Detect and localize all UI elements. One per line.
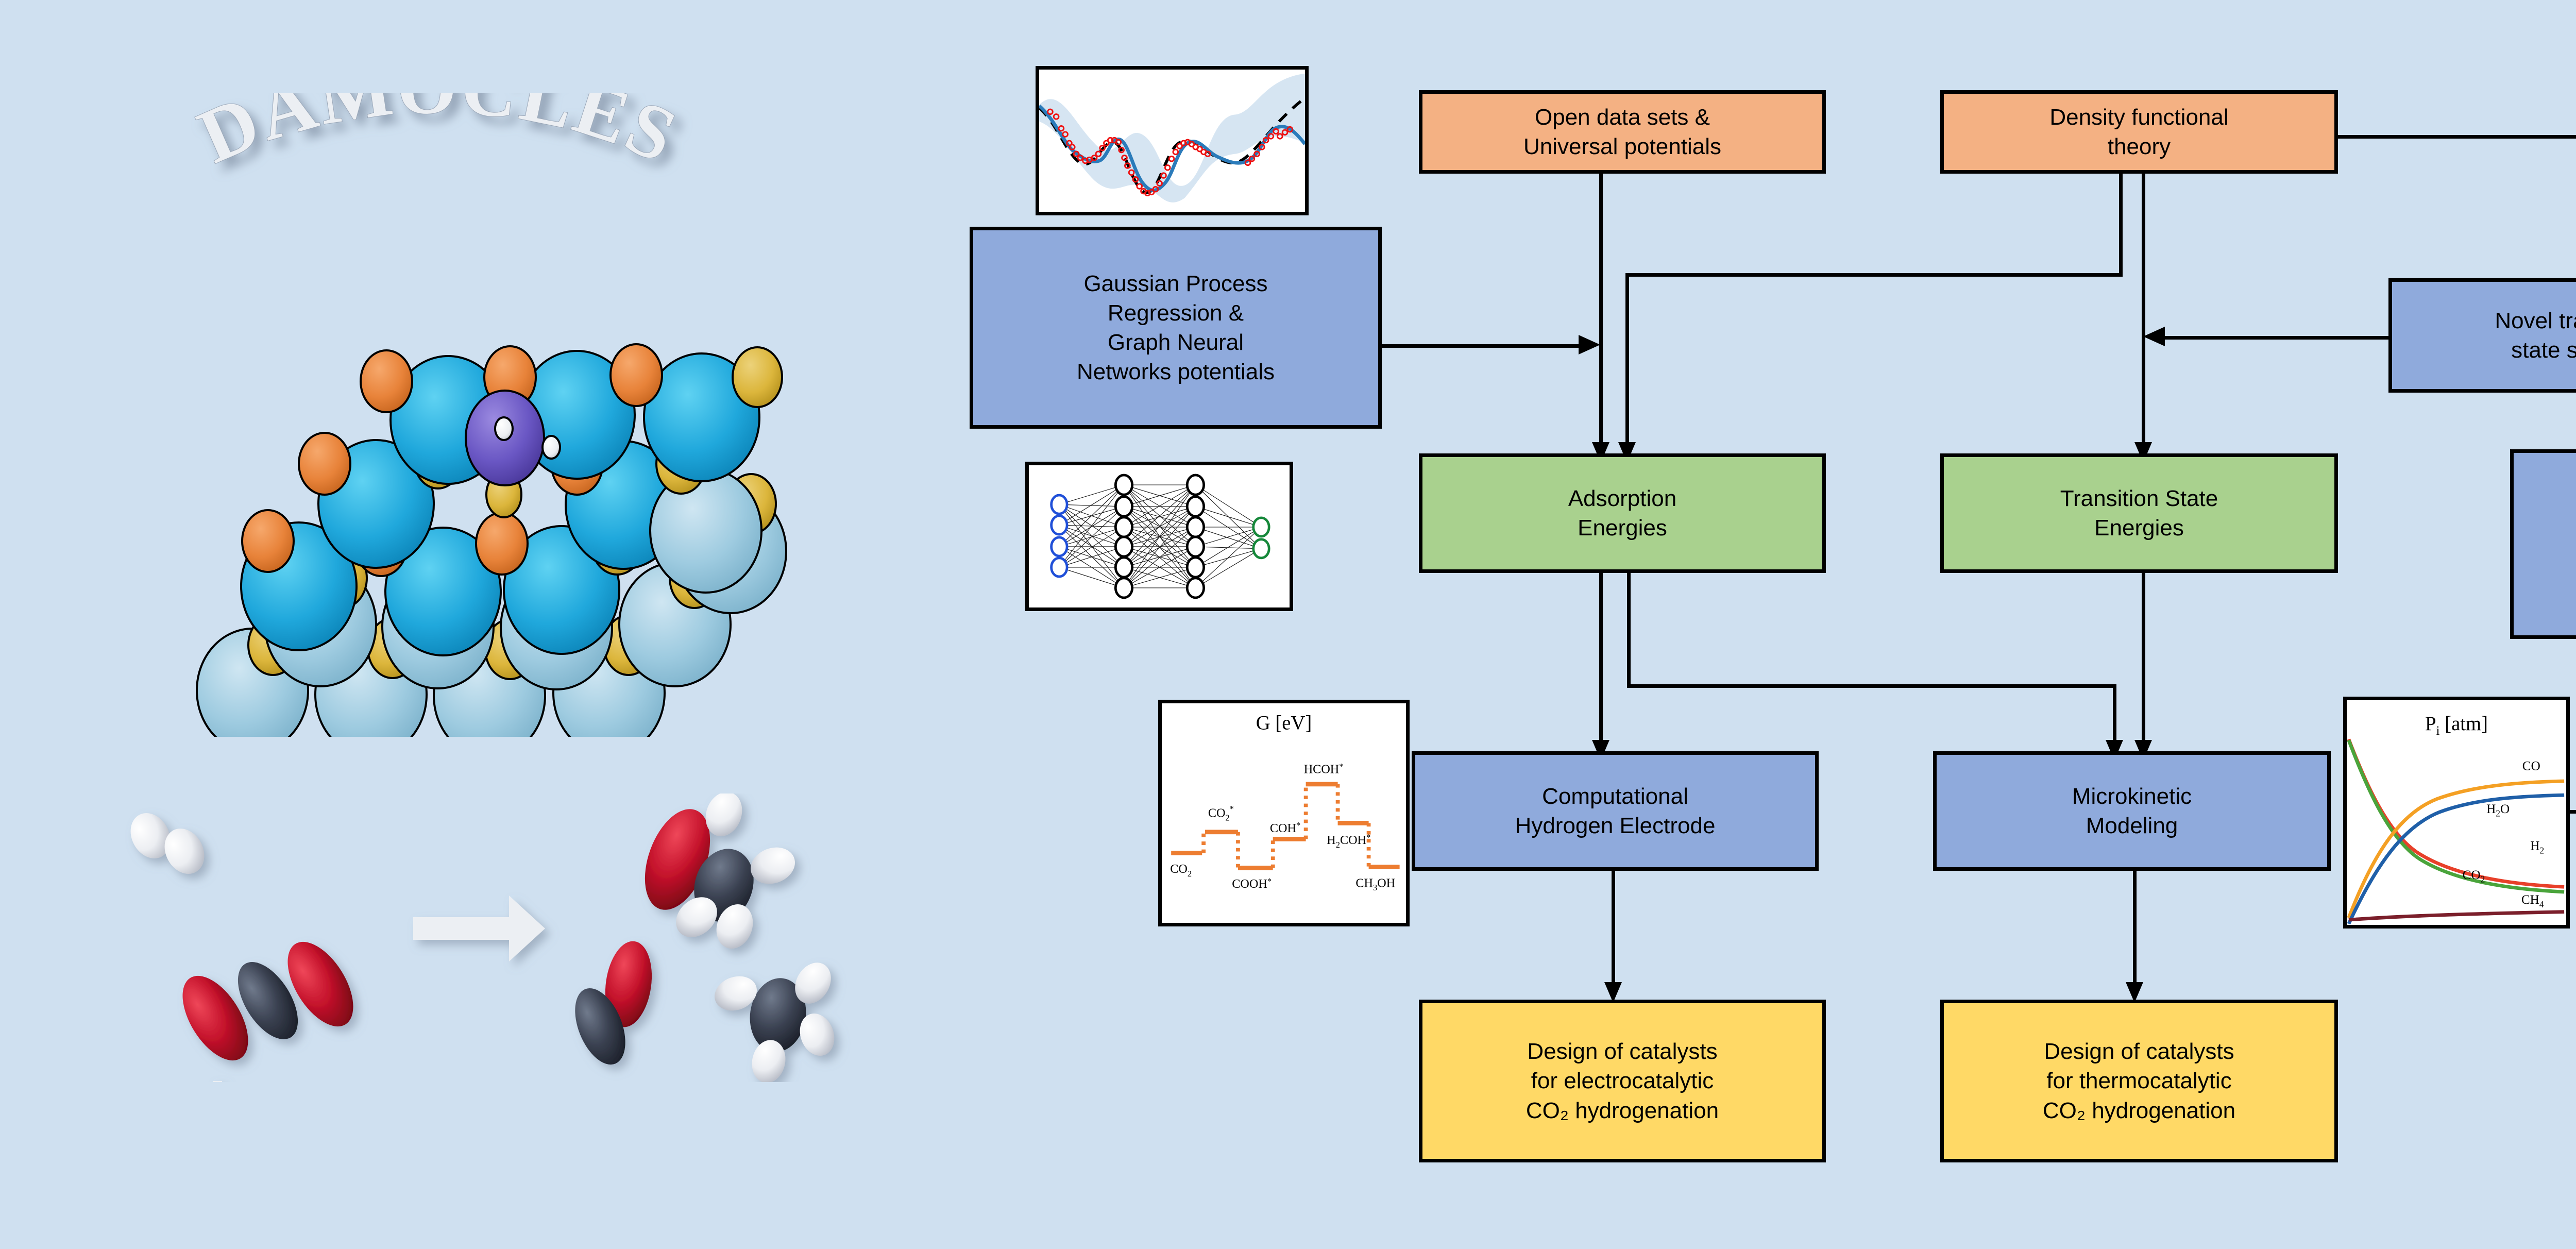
- damocles-logo: DAMOCLES: [46, 93, 829, 330]
- svg-text:G [eV]: G [eV]: [1256, 712, 1312, 734]
- node-novel-transition-state-search[interactable]: Novel transition state search: [2388, 278, 2576, 393]
- connector-opendata-adsorption: [1599, 173, 1603, 445]
- svg-text:COH*: COH*: [1270, 820, 1300, 835]
- node-open-data-sets[interactable]: Open data sets & Universal potentials: [1419, 90, 1826, 174]
- node-microkinetic-modeling[interactable]: Microkinetic Modeling: [1933, 751, 2331, 871]
- svg-text:HCOH*: HCOH*: [1304, 762, 1344, 777]
- connector-adsorption-micro-seg1: [1627, 573, 1631, 687]
- molecule-ch4: [710, 956, 840, 1082]
- svg-text:COOH*: COOH*: [1232, 876, 1272, 891]
- connector-transition-micro: [2142, 573, 2145, 743]
- connector-dft-adsorption-seg3: [1625, 273, 1629, 445]
- molecule-ch3oh: [632, 794, 800, 954]
- connector-micro-design: [2133, 871, 2137, 985]
- node-adsorption-energies-label: Adsorption Energies: [1568, 484, 1676, 543]
- damocles-logo-text: DAMOCLES: [187, 93, 690, 180]
- svg-text:H2COH*: H2COH*: [1327, 832, 1370, 850]
- node-sensitivity-analysis[interactable]: Sensitivity Analysis and Uncertainty Qua…: [2510, 449, 2576, 639]
- neural-network-diagram: [1025, 462, 1293, 611]
- svg-text:Pi [atm]: Pi [atm]: [2425, 713, 2488, 738]
- connector-mlpot-adsorption: [1381, 344, 1587, 348]
- node-design-thermocatalytic-label: Design of catalysts for thermocatalytic …: [2043, 1037, 2235, 1125]
- node-transition-state-energies-label: Transition State Energies: [2060, 484, 2218, 543]
- co2-hydrogenation-reaction: [118, 794, 860, 1082]
- molecule-co: [565, 938, 657, 1072]
- node-adsorption-energies[interactable]: Adsorption Energies: [1419, 453, 1826, 573]
- molecule-h2: [123, 806, 212, 881]
- free-energy-diagram: G [eV] CO2 CO2* COOH*: [1158, 700, 1410, 926]
- node-computational-hydrogen-electrode[interactable]: Computational Hydrogen Electrode: [1412, 751, 1819, 871]
- plus-sign: [193, 1059, 242, 1082]
- node-microkinetic-modeling-label: Microkinetic Modeling: [2072, 782, 2192, 840]
- partial-pressure-plot: Pi [atm] CO H2O H2 CO2 CH4: [2343, 697, 2570, 929]
- catalyst-slab-model: [170, 309, 788, 737]
- gaussian-process-regression-plot: [1036, 66, 1309, 215]
- node-transition-state-energies[interactable]: Transition State Energies: [1940, 453, 2338, 573]
- node-design-thermocatalytic[interactable]: Design of catalysts for thermocatalytic …: [1940, 1000, 2338, 1162]
- connector-dft-adsorption-seg2: [1625, 273, 2123, 277]
- connector-dft-adsorption-seg1: [2119, 173, 2123, 276]
- node-design-electrocatalytic-label: Design of catalysts for electrocatalytic…: [1526, 1037, 1719, 1125]
- node-open-data-sets-label: Open data sets & Universal potentials: [1523, 103, 1721, 161]
- svg-text:CO: CO: [2522, 759, 2540, 773]
- connector-adsorption-micro-seg3: [2113, 684, 2116, 744]
- reaction-arrow: [413, 896, 545, 961]
- connector-adsorption-micro-seg2: [1627, 684, 2116, 688]
- node-design-electrocatalytic[interactable]: Design of catalysts for electrocatalytic…: [1419, 1000, 1826, 1162]
- connector-che-design: [1612, 871, 1615, 985]
- node-density-functional-theory-label: Density functional theory: [2049, 103, 2228, 161]
- node-density-functional-theory[interactable]: Density functional theory: [1940, 90, 2338, 174]
- connector-adsorption-che: [1599, 573, 1603, 743]
- connector-tssearch-dft: [2164, 336, 2391, 340]
- node-ml-potentials[interactable]: Gaussian Process Regression & Graph Neur…: [970, 227, 1382, 429]
- molecule-co2: [170, 931, 367, 1072]
- connector-dft-transition: [2142, 173, 2145, 445]
- node-ml-potentials-label: Gaussian Process Regression & Graph Neur…: [1077, 269, 1275, 387]
- arrowhead-mlpot-adsorption: [1579, 335, 1600, 355]
- arrowhead-tssearch-dft: [2143, 327, 2165, 346]
- diagram-canvas: DAMOCLES: [0, 0, 2576, 1249]
- node-novel-transition-state-search-label: Novel transition state search: [2495, 306, 2576, 365]
- node-computational-hydrogen-electrode-label: Computational Hydrogen Electrode: [1515, 782, 1716, 840]
